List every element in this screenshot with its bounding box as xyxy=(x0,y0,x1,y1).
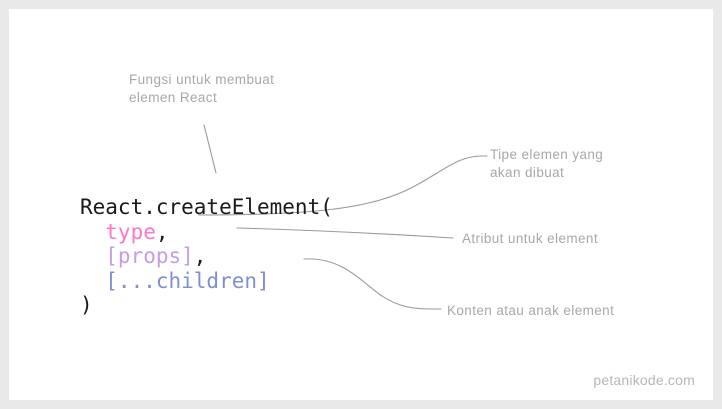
code-token-children: [...children] xyxy=(105,269,269,293)
code-token-comma-2: , xyxy=(194,244,207,268)
annotation-label-atribut: Atribut untuk element xyxy=(462,230,682,248)
code-token-close-paren: ) xyxy=(80,293,93,317)
code-line-1: React.createElement( xyxy=(80,195,333,220)
watermark: petanikode.com xyxy=(593,372,695,388)
code-snippet: React.createElement(type,[props],[...chi… xyxy=(80,195,333,318)
code-line-5: ) xyxy=(80,293,333,318)
code-token-call: React.createElement( xyxy=(80,195,333,219)
code-line-2: type, xyxy=(80,220,333,245)
code-token-type: type xyxy=(105,220,156,244)
code-token-comma-1: , xyxy=(156,220,169,244)
annotation-label-tipe: Tipe elemen yang akan dibuat xyxy=(490,146,680,182)
connector-fungsi xyxy=(204,125,216,173)
annotation-label-fungsi: Fungsi untuk membuat elemen React xyxy=(129,71,349,107)
diagram-canvas: React.createElement(type,[props],[...chi… xyxy=(9,9,713,400)
code-line-4: [...children] xyxy=(80,269,333,294)
code-token-props: [props] xyxy=(105,244,194,268)
annotation-label-konten: Konten atau anak element xyxy=(447,302,687,320)
code-line-3: [props], xyxy=(80,244,333,269)
